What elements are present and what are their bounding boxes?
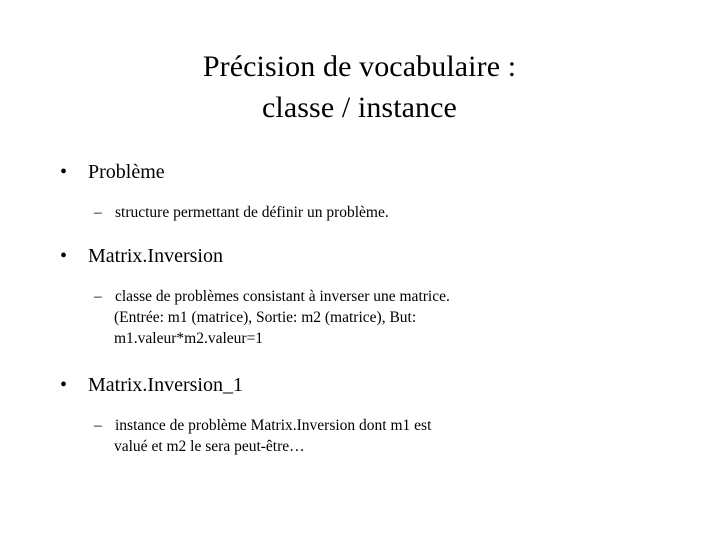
slide-title: Précision de vocabulaire : classe / inst… <box>0 46 719 128</box>
bullet-dot-icon: • <box>60 158 67 186</box>
dash-icon: – <box>94 415 102 436</box>
slide-canvas: Précision de vocabulaire : classe / inst… <box>0 0 719 539</box>
spacer <box>0 223 719 242</box>
spacer <box>0 399 719 415</box>
sub-item-matrix-inversion-1-description: – instance de problème Matrix.Inversion … <box>0 415 675 457</box>
title-line-1: Précision de vocabulaire : <box>0 46 719 87</box>
bullet-label: Matrix.Inversion_1 <box>88 374 243 396</box>
sub-item-matrix-inversion-description: – classe de problèmes consistant à inver… <box>0 286 675 349</box>
sub-item-line: instance de problème Matrix.Inversion do… <box>115 415 675 436</box>
spacer <box>0 186 719 202</box>
bullet-item-matrix-inversion-1: • Matrix.Inversion_1 <box>0 371 719 399</box>
sub-item-probleme-definition: – structure permettant de définir un pro… <box>0 202 675 223</box>
sub-item-line: valué et m2 le sera peut-être… <box>114 436 675 457</box>
spacer <box>0 270 719 286</box>
bullet-label: Matrix.Inversion <box>88 245 223 267</box>
bullet-item-matrix-inversion: • Matrix.Inversion <box>0 242 719 270</box>
bullet-dot-icon: • <box>60 371 67 399</box>
sub-item-line: structure permettant de définir un probl… <box>115 202 675 223</box>
bullet-item-probleme: • Problème <box>0 158 719 186</box>
sub-item-line: (Entrée: m1 (matrice), Sortie: m2 (matri… <box>114 307 675 328</box>
spacer <box>0 349 719 371</box>
title-line-2: classe / instance <box>0 87 719 128</box>
bullet-label: Problème <box>88 161 165 183</box>
bullet-dot-icon: • <box>60 242 67 270</box>
dash-icon: – <box>94 286 102 307</box>
sub-item-line: m1.valeur*m2.valeur=1 <box>114 328 675 349</box>
sub-item-line: classe de problèmes consistant à inverse… <box>115 286 675 307</box>
slide-body: • Problème – structure permettant de déf… <box>0 158 719 457</box>
dash-icon: – <box>94 202 102 223</box>
